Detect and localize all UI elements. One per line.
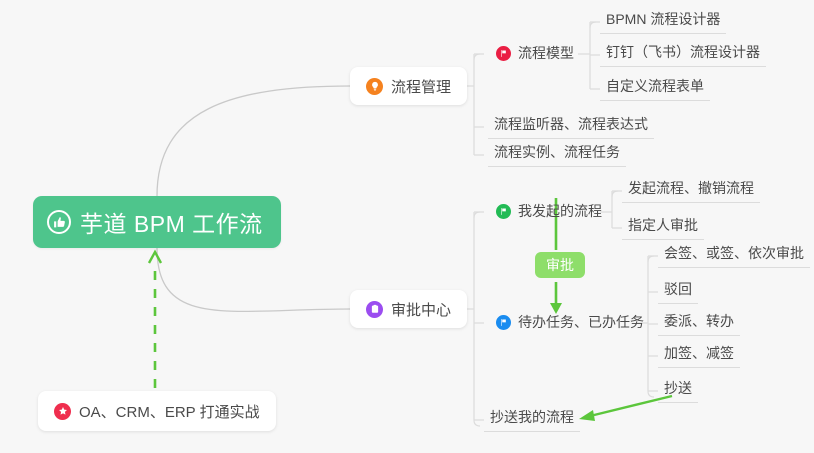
integration-dashed-arrow-group: [149, 252, 161, 388]
leaf-label: 委派、转办: [664, 311, 734, 331]
link-root-to-process-management: [157, 86, 350, 196]
flag-icon: [496, 46, 511, 61]
link-model-top-corner: [590, 22, 596, 28]
leaf-add-remove-sign[interactable]: 加签、减签: [658, 343, 740, 368]
leaf-reject[interactable]: 驳回: [658, 279, 698, 304]
leaf-label: 指定人审批: [628, 215, 698, 235]
leaf-label: 发起流程、撤销流程: [628, 178, 754, 198]
leaf-cc-to-me[interactable]: 抄送我的流程: [484, 407, 580, 432]
leaf-designated-approver[interactable]: 指定人审批: [622, 215, 704, 240]
leaf-label: 抄送: [664, 378, 692, 398]
leaf-dingtalk-designer[interactable]: 钉钉（飞书）流程设计器: [600, 42, 766, 67]
thumbs-up-icon: [47, 210, 71, 234]
footer-node-integration[interactable]: OA、CRM、ERP 打通实战: [38, 391, 276, 431]
approval-tag[interactable]: 审批: [535, 252, 585, 278]
mindmap-canvas: 芋道 BPM 工作流 流程管理 流程模型 BPMN 流程设计器 钉钉（飞书）流程…: [0, 0, 814, 453]
leaf-label: 驳回: [664, 279, 692, 299]
approval-tag-label: 审批: [546, 257, 574, 273]
link-pm-top-corner: [474, 54, 480, 60]
leaf-start-cancel-process[interactable]: 发起流程、撤销流程: [622, 178, 760, 203]
leaf-label: 流程监听器、流程表达式: [494, 114, 648, 134]
leaf-label: 自定义流程表单: [606, 76, 704, 96]
node-label-my-initiated: 我发起的流程: [518, 201, 602, 221]
flag-icon: [496, 204, 511, 219]
leaf-instance-task[interactable]: 流程实例、流程任务: [488, 142, 626, 167]
lightbulb-icon: [366, 78, 383, 95]
leaf-bpmn-designer[interactable]: BPMN 流程设计器: [600, 9, 726, 34]
branch-node-process-management[interactable]: 流程管理: [350, 67, 467, 105]
node-my-initiated[interactable]: 我发起的流程: [490, 201, 608, 225]
root-label: 芋道 BPM 工作流: [80, 205, 263, 239]
link-init-top-corner: [612, 191, 618, 197]
leaf-label: 加签、减签: [664, 343, 734, 363]
footer-node-label: OA、CRM、ERP 打通实战: [79, 401, 260, 422]
link-todo-bottom-corner: [648, 391, 654, 397]
branch-node-approval-center[interactable]: 审批中心: [350, 290, 467, 328]
link-todo-top-corner: [648, 256, 654, 262]
link-ac-bottom-corner: [474, 420, 480, 426]
dashed-arrow-head: [149, 252, 161, 263]
leaf-custom-form[interactable]: 自定义流程表单: [600, 76, 710, 101]
cc-arrow-head: [579, 410, 595, 421]
clipboard-icon: [366, 301, 383, 318]
link-root-to-approval-center: [157, 248, 350, 311]
branch-label-approval-center: 审批中心: [391, 299, 451, 320]
leaf-countersign[interactable]: 会签、或签、依次审批: [658, 243, 810, 268]
leaf-label: BPMN 流程设计器: [606, 9, 720, 29]
leaf-label: 会签、或签、依次审批: [664, 243, 804, 263]
link-ac-top-corner: [474, 212, 480, 218]
flag-icon: [496, 315, 511, 330]
node-label-todo-done: 待办任务、已办任务: [518, 312, 644, 332]
leaf-label: 抄送我的流程: [490, 407, 574, 427]
node-label-process-model: 流程模型: [518, 43, 574, 63]
star-icon: [54, 403, 71, 420]
root-node[interactable]: 芋道 BPM 工作流: [33, 196, 281, 248]
leaf-delegate-transfer[interactable]: 委派、转办: [658, 311, 740, 336]
leaf-label: 流程实例、流程任务: [494, 142, 620, 162]
node-todo-done[interactable]: 待办任务、已办任务: [490, 312, 650, 336]
node-process-model[interactable]: 流程模型: [490, 43, 580, 67]
leaf-label: 钉钉（飞书）流程设计器: [606, 42, 760, 62]
branch-label-process-management: 流程管理: [391, 76, 451, 97]
leaf-listener-expression[interactable]: 流程监听器、流程表达式: [488, 114, 654, 139]
leaf-carbon-copy[interactable]: 抄送: [658, 378, 698, 403]
